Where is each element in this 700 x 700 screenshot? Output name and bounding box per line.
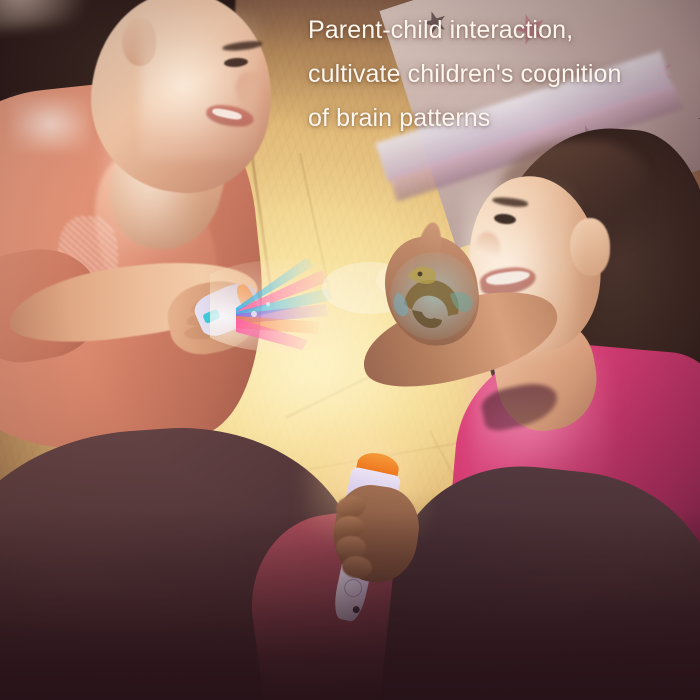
headline-text: Parent-child interaction, cultivate chil… [308, 8, 688, 140]
product-lifestyle-image: ★ ★ ★ ★ ★ ★ [0, 0, 700, 700]
knuckle [336, 536, 366, 558]
hair-highlight [0, 0, 93, 33]
mother-collar-trim [10, 96, 90, 152]
star-icon: ★ [693, 101, 700, 135]
mother-nose [236, 72, 262, 106]
girl-nose [476, 232, 500, 262]
girl-ear [570, 218, 610, 276]
